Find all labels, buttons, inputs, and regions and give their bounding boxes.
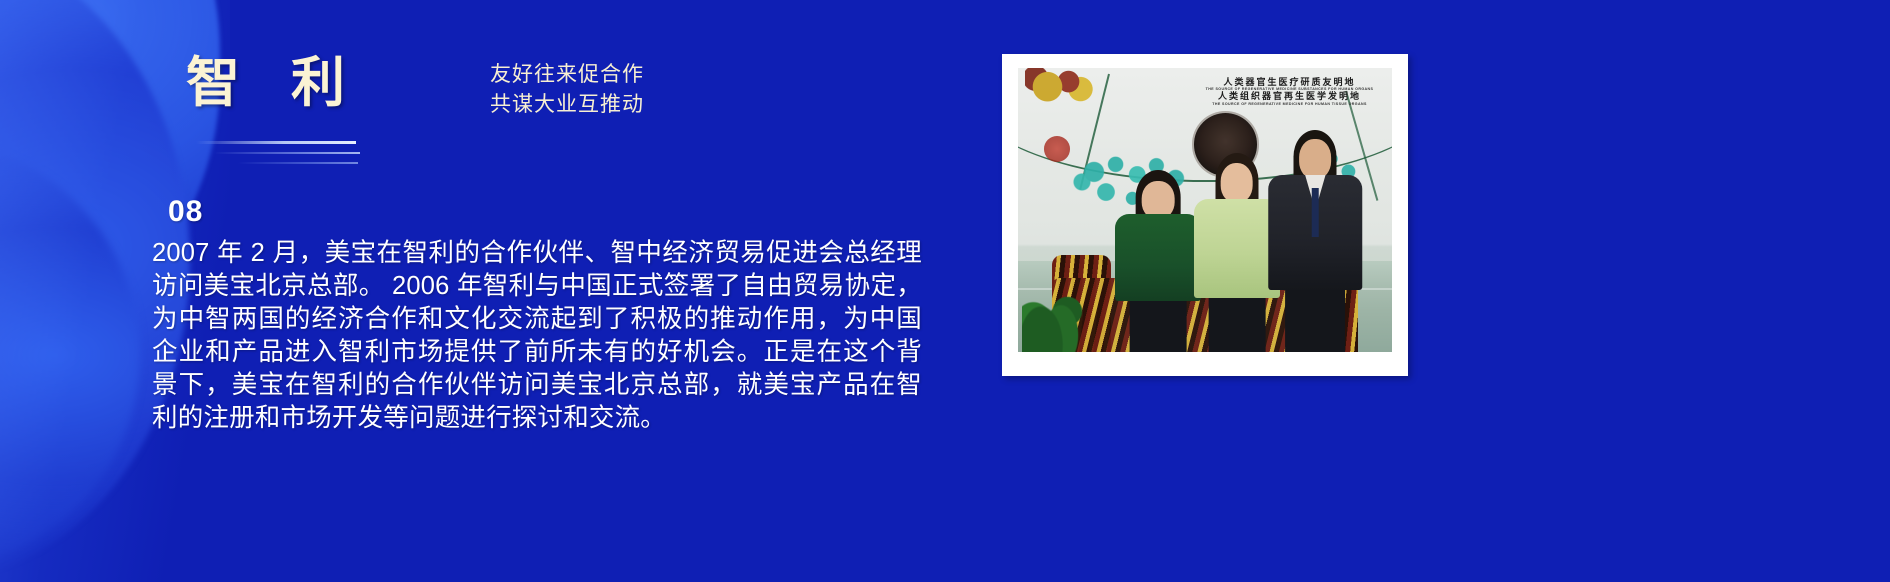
- banner-headline-1: 人类器官生医疗研质友明地: [1206, 77, 1374, 88]
- person-legs: [1208, 294, 1265, 352]
- photo-frame: 人类器官生医疗研质友明地 THE SOURCE OF REGENERATIVE …: [1002, 54, 1408, 376]
- person-legs: [1130, 297, 1187, 352]
- slide-canvas: 智 利 友好往来促合作 共谋大业互推动 08 2007 年 2 月，美宝在智利的…: [0, 0, 1890, 582]
- person-legs: [1285, 286, 1345, 352]
- body-paragraph: 2007 年 2 月，美宝在智利的合作伙伴、智中经济贸易促进会总经理访问美宝北京…: [152, 237, 922, 435]
- banner-subline-2: THE SOURCE OF REGENERATIVE MEDICINE FOR …: [1206, 102, 1374, 106]
- photo-banner-text: 人类器官生医疗研质友明地 THE SOURCE OF REGENERATIVE …: [1206, 77, 1374, 107]
- photo-person-left: [1115, 170, 1201, 352]
- photo-flower-arrangement: [1025, 68, 1100, 102]
- person-torso: [1115, 214, 1201, 301]
- subtitle-line-2: 共谋大业互推动: [490, 90, 644, 120]
- photo-red-logo: [1044, 136, 1070, 162]
- page-subtitle: 友好往来促合作 共谋大业互推动: [490, 60, 644, 120]
- person-torso: [1194, 199, 1280, 298]
- photo-image: 人类器官生医疗研质友明地 THE SOURCE OF REGENERATIVE …: [1018, 68, 1392, 352]
- banner-headline-2: 人类组织器官再生医学发明地: [1206, 91, 1374, 102]
- person-necktie: [1312, 188, 1319, 237]
- item-number: 08: [168, 195, 203, 229]
- subtitle-line-1: 友好往来促合作: [490, 60, 644, 90]
- photo-potted-plant: [1022, 267, 1086, 352]
- photo-person-center: [1194, 153, 1280, 352]
- title-divider-line-2: [214, 152, 360, 154]
- person-head: [1299, 139, 1331, 179]
- title-divider-line-3: [238, 162, 358, 164]
- photo-person-right: [1269, 130, 1363, 352]
- page-title: 智 利: [186, 52, 363, 114]
- person-head: [1220, 163, 1253, 203]
- title-divider-line-1: [196, 141, 356, 144]
